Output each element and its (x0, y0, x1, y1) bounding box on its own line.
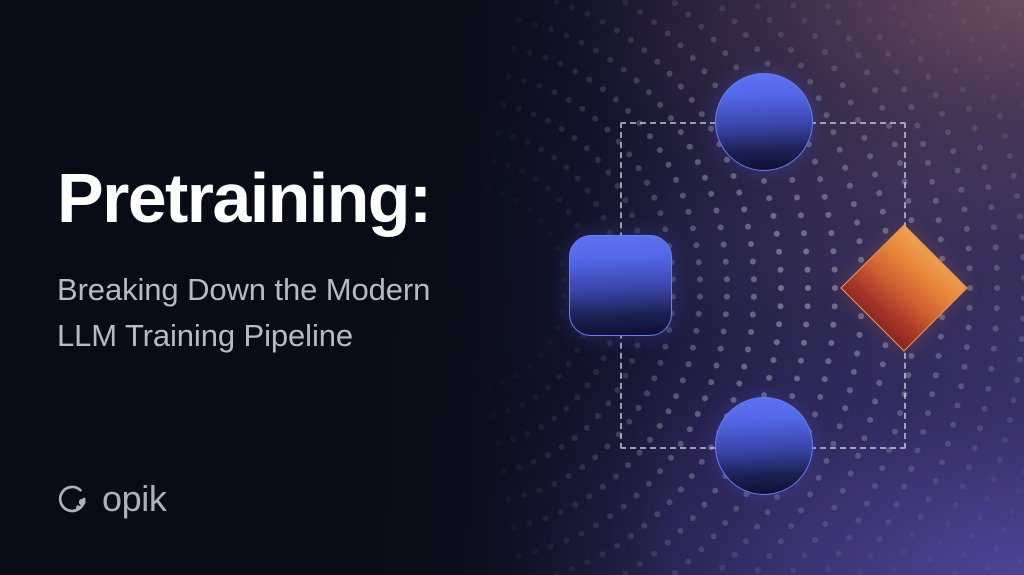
node-top-circle (715, 73, 813, 171)
page-title: Pretraining: (57, 163, 527, 233)
brand-logo[interactable]: opik (57, 481, 166, 517)
page-subtitle: Breaking Down the Modern LLM Training Pi… (57, 267, 497, 359)
hero-text-column: Pretraining: Breaking Down the Modern LL… (57, 163, 527, 359)
hero-banner: Pretraining: Breaking Down the Modern LL… (0, 0, 1024, 575)
brand-wordmark: opik (102, 481, 166, 517)
opik-orbit-icon (57, 482, 91, 516)
node-left-square (569, 235, 672, 336)
node-bottom-circle (715, 397, 813, 495)
